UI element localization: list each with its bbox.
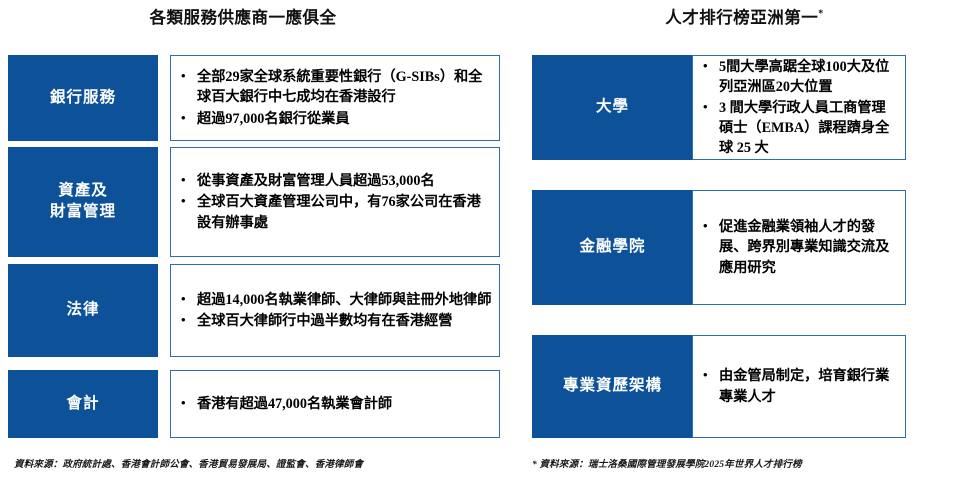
bullet-icon: • — [703, 366, 708, 384]
content-accounting: • 香港有超過47,000名執業會計師 — [170, 370, 500, 438]
label-legal: 法律 — [8, 264, 158, 357]
bullet-icon: • — [703, 57, 708, 75]
bullet-list: • 從事資產及財富管理人員超過53,000名 • 全球百大資產管理公司中，有76… — [175, 171, 493, 232]
bullet-icon: • — [181, 192, 186, 210]
right-section-title-text: 人才排行榜亞洲第一 — [665, 8, 818, 27]
bullet-icon: • — [181, 109, 186, 127]
list-item-text: 由金管局制定，培育銀行業專業人才 — [719, 368, 889, 404]
label-universities: 大學 — [532, 55, 693, 160]
list-item-text: 全部29家全球系統重要性銀行（G-SIBs）和全球百大銀行中七成均在香港設行 — [197, 69, 482, 105]
content-finance-academy: • 促進金融業領袖人才的發展、跨界別專業知識交流及應用研究 — [692, 190, 906, 305]
footnote-marker-icon: * — [818, 9, 824, 20]
right-column: 人才排行榜亞洲第一* 大學 • 5間大學高踞全球100大及位列亞洲區20大位置 … — [510, 0, 979, 487]
left-footnote: 資料來源：政府統計處、香港會計師公會、香港貿易發展局、證監會、香港律師會 — [14, 456, 363, 470]
content-banking-services: • 全部29家全球系統重要性銀行（G-SIBs）和全球百大銀行中七成均在香港設行… — [170, 55, 500, 141]
bullet-list: • 5間大學高踞全球100大及位列亞洲區20大位置 • 3 間大學行政人員工商管… — [697, 57, 899, 159]
label-accounting: 會計 — [8, 370, 158, 438]
bullet-list: • 全部29家全球系統重要性銀行（G-SIBs）和全球百大銀行中七成均在香港設行… — [175, 67, 493, 128]
left-column: 各類服務供應商一應俱全 銀行服務 • 全部29家全球系統重要性銀行（G-SIBs… — [0, 0, 510, 487]
bullet-icon: • — [181, 311, 186, 329]
bullet-icon: • — [181, 394, 186, 412]
list-item: • 促進金融業領袖人才的發展、跨界別專業知識交流及應用研究 — [697, 217, 899, 277]
bullet-list: • 香港有超過47,000名執業會計師 — [175, 394, 493, 414]
list-item-text: 全球百大律師行中過半數均有在香港經營 — [197, 313, 452, 329]
label-finance-academy: 金融學院 — [532, 190, 693, 305]
list-item: • 從事資產及財富管理人員超過53,000名 — [175, 171, 493, 191]
list-item: • 5間大學高踞全球100大及位列亞洲區20大位置 — [697, 57, 899, 97]
content-qualifications-framework: • 由金管局制定，培育銀行業專業人才 — [692, 335, 906, 438]
bullet-list: • 由金管局制定，培育銀行業專業人才 — [697, 366, 899, 406]
list-item: • 全部29家全球系統重要性銀行（G-SIBs）和全球百大銀行中七成均在香港設行 — [175, 67, 493, 107]
list-item-text: 促進金融業領袖人才的發展、跨界別專業知識交流及應用研究 — [719, 219, 889, 275]
bullet-list: • 超過14,000名執業律師、大律師與註冊外地律師 • 全球百大律師行中過半數… — [175, 290, 493, 331]
content-legal: • 超過14,000名執業律師、大律師與註冊外地律師 • 全球百大律師行中過半數… — [170, 264, 500, 357]
list-item: • 超過97,000名銀行從業員 — [175, 109, 493, 129]
label-asset-wealth-management: 資產及 財富管理 — [8, 147, 158, 257]
bullet-icon: • — [703, 98, 708, 116]
list-item-text: 從事資產及財富管理人員超過53,000名 — [197, 173, 435, 189]
list-item: • 3 間大學行政人員工商管理碩士（EMBA）課程躋身全球 25 大 — [697, 98, 899, 158]
list-item-text: 超過97,000名銀行從業員 — [197, 111, 350, 127]
left-section-title: 各類服務供應商一應俱全 — [0, 4, 498, 28]
list-item: • 香港有超過47,000名執業會計師 — [175, 394, 493, 414]
content-universities: • 5間大學高踞全球100大及位列亞洲區20大位置 • 3 間大學行政人員工商管… — [692, 55, 906, 160]
slide-canvas: 各類服務供應商一應俱全 銀行服務 • 全部29家全球系統重要性銀行（G-SIBs… — [0, 0, 979, 487]
bullet-list: • 促進金融業領袖人才的發展、跨界別專業知識交流及應用研究 — [697, 217, 899, 277]
list-item: • 全球百大資產管理公司中，有76家公司在香港設有辦事處 — [175, 192, 493, 232]
bullet-icon: • — [181, 171, 186, 189]
right-footnote: * 資料來源：瑞士洛桑國際管理發展學院2025年世界人才排行榜 — [532, 456, 802, 470]
list-item: • 全球百大律師行中過半數均有在香港經營 — [175, 311, 493, 331]
label-qualifications-framework: 專業資歷架構 — [532, 335, 693, 438]
list-item: • 由金管局制定，培育銀行業專業人才 — [697, 366, 899, 406]
bullet-icon: • — [181, 67, 186, 85]
list-item-text: 3 間大學行政人員工商管理碩士（EMBA）課程躋身全球 25 大 — [719, 100, 889, 156]
list-item-text: 全球百大資產管理公司中，有76家公司在香港設有辦事處 — [197, 194, 481, 230]
label-banking-services: 銀行服務 — [8, 55, 158, 141]
list-item: • 超過14,000名執業律師、大律師與註冊外地律師 — [175, 290, 493, 310]
list-item-text: 超過14,000名執業律師、大律師與註冊外地律師 — [197, 292, 491, 308]
list-item-text: 5間大學高踞全球100大及位列亞洲區20大位置 — [719, 59, 889, 95]
bullet-icon: • — [703, 217, 708, 235]
content-asset-wealth-management: • 從事資產及財富管理人員超過53,000名 • 全球百大資產管理公司中，有76… — [170, 147, 500, 257]
bullet-icon: • — [181, 290, 186, 308]
right-section-title: 人才排行榜亞洲第一* — [510, 4, 979, 28]
list-item-text: 香港有超過47,000名執業會計師 — [197, 396, 392, 412]
